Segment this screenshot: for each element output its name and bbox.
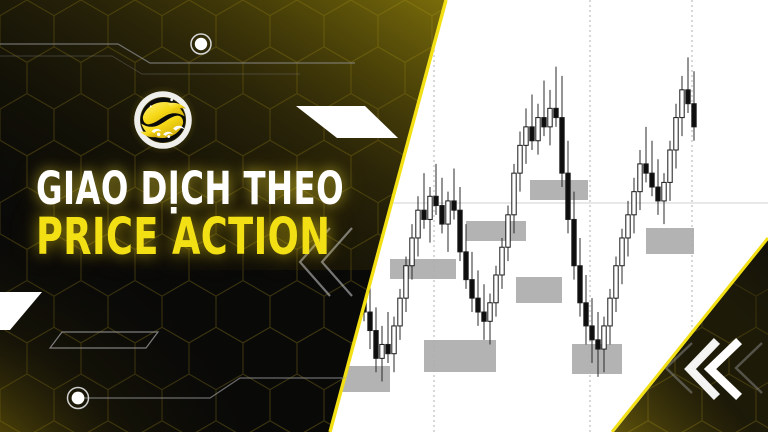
circuit-node-dot-top <box>195 38 207 50</box>
chevron-group-bottom-right <box>666 343 762 394</box>
circuit-line-top <box>0 44 355 63</box>
circuit-node-dot-bottom <box>72 392 85 405</box>
decor-layer <box>0 0 768 432</box>
chevron-double-left-icon-left <box>300 228 352 296</box>
outline-parallelogram <box>50 332 158 348</box>
shard-white-top <box>296 106 398 138</box>
whale-fish-logo <box>126 84 200 156</box>
chevron-double-left-icon <box>710 344 736 394</box>
banner-root: GIAO DỊCH THEO PRICE ACTION <box>0 0 768 432</box>
shard-white-bottomleft <box>0 292 42 330</box>
circuit-line-bottom <box>78 378 360 398</box>
circuit-line-top-secondary <box>0 56 300 74</box>
